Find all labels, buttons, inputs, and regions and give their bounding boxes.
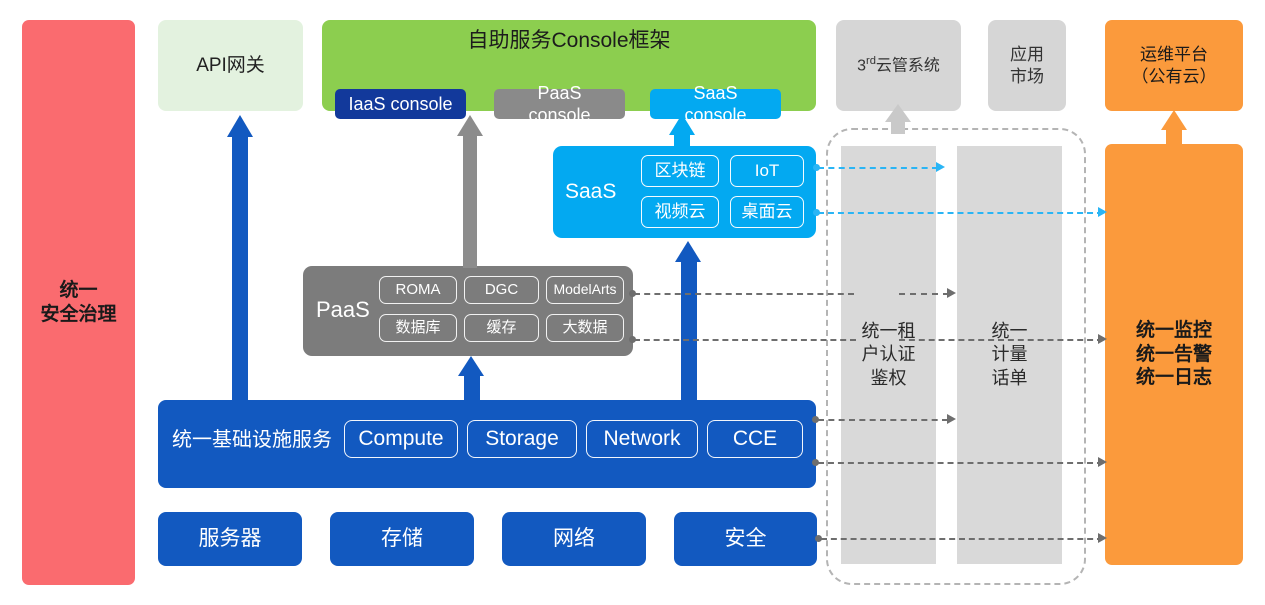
saas-service-blockchain[interactable]: 区块链	[641, 155, 719, 187]
saas-layer-box: SaaS 区块链 IoT 视频云 桌面云	[553, 146, 816, 238]
paas-service-dgc[interactable]: DGC	[464, 276, 539, 304]
unified-tenant-auth-label: 统一租 户认证 鉴权	[862, 320, 916, 390]
ops-platform-public-cloud-label: 运维平台 （公有云）	[1132, 44, 1217, 87]
unified-infrastructure-bar: 统一基础设施服务 Compute Storage Network CCE	[158, 400, 816, 488]
console-framework-box: 自助服务Console框架 IaaS console PaaS console …	[322, 20, 816, 111]
architecture-diagram: 统一 安全治理 API网关 自助服务Console框架 IaaS console…	[0, 0, 1265, 605]
infra-service-compute[interactable]: Compute	[344, 420, 458, 458]
api-gateway-label: API网关	[196, 54, 265, 78]
hardware-storage-box: 存储	[330, 512, 474, 566]
unified-billing-column: 统一 计量 话单	[957, 146, 1062, 564]
unified-billing-label: 统一 计量 话单	[992, 320, 1028, 390]
hardware-server-box: 服务器	[158, 512, 302, 566]
security-governance-label: 统一 安全治理	[40, 279, 116, 327]
infra-service-storage[interactable]: Storage	[467, 420, 577, 458]
infra-service-network[interactable]: Network	[586, 420, 698, 458]
paas-service-cache[interactable]: 缓存	[464, 314, 539, 342]
saas-service-desktop-cloud[interactable]: 桌面云	[730, 196, 804, 228]
third-party-superscript: rd	[866, 55, 876, 67]
hardware-network-box: 网络	[502, 512, 646, 566]
third-party-suffix: 云管系统	[876, 58, 940, 75]
saas-service-iot[interactable]: IoT	[730, 155, 804, 187]
paas-console-chip[interactable]: PaaS console	[494, 89, 625, 119]
infra-service-cce[interactable]: CCE	[707, 420, 803, 458]
paas-service-modelarts[interactable]: ModelArts	[546, 276, 624, 304]
security-governance-column: 统一 安全治理	[22, 20, 135, 585]
paas-layer-label: PaaS	[316, 296, 370, 324]
app-market-box: 应用 市场	[988, 20, 1066, 111]
paas-service-bigdata[interactable]: 大数据	[546, 314, 624, 342]
unified-infrastructure-label: 统一基础设施服务	[172, 428, 332, 453]
app-market-label: 应用 市场	[1010, 44, 1044, 87]
iaas-console-chip[interactable]: IaaS console	[335, 89, 466, 119]
ops-platform-monitoring-column: 统一监控 统一告警 统一日志	[1105, 144, 1243, 565]
third-party-prefix: 3	[857, 58, 866, 75]
hardware-security-box: 安全	[674, 512, 817, 566]
third-party-cloud-management-box: 3rd云管系统	[836, 20, 961, 111]
saas-service-video-cloud[interactable]: 视频云	[641, 196, 719, 228]
console-framework-title: 自助服务Console框架	[322, 28, 816, 54]
saas-layer-label: SaaS	[565, 179, 616, 205]
api-gateway-box: API网关	[158, 20, 303, 111]
paas-layer-box: PaaS ROMA DGC ModelArts 数据库 缓存 大数据	[303, 266, 633, 356]
paas-service-roma[interactable]: ROMA	[379, 276, 457, 304]
paas-service-database[interactable]: 数据库	[379, 314, 457, 342]
third-party-cloud-management-label: 3rd云管系统	[857, 54, 940, 76]
unified-tenant-auth-column: 统一租 户认证 鉴权	[841, 146, 936, 564]
ops-platform-monitoring-label: 统一监控 统一告警 统一日志	[1136, 319, 1212, 390]
ops-platform-public-cloud-box: 运维平台 （公有云）	[1105, 20, 1243, 111]
